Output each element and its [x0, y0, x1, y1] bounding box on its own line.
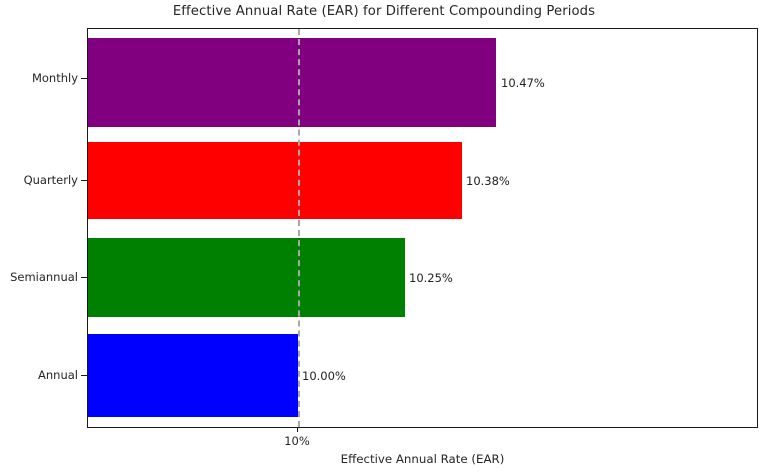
- y-tick-label-monthly: Monthly: [0, 71, 78, 85]
- y-tick-label-quarterly: Quarterly: [0, 173, 78, 187]
- y-tick-label-annual: Annual: [0, 368, 78, 382]
- bar-quarterly[interactable]: [88, 142, 462, 219]
- reference-line-10-percent: [298, 29, 300, 427]
- plot-area: 10.47% 10.38% 10.25% 10.00%: [87, 28, 758, 428]
- x-tick-label-10-percent: 10%: [284, 434, 310, 448]
- bar-annual[interactable]: [88, 334, 298, 417]
- bar-value-label-annual: 10.00%: [302, 369, 346, 383]
- x-axis-label: Effective Annual Rate (EAR): [87, 452, 758, 466]
- chart-figure: Effective Annual Rate (EAR) for Differen…: [0, 0, 768, 474]
- x-tick-mark-10-percent: [297, 428, 298, 432]
- bar-semiannual[interactable]: [88, 238, 405, 317]
- plot-inner: 10.47% 10.38% 10.25% 10.00%: [88, 29, 757, 427]
- chart-title: Effective Annual Rate (EAR) for Differen…: [0, 4, 768, 19]
- bar-value-label-monthly: 10.47%: [501, 76, 545, 90]
- bar-value-label-semiannual: 10.25%: [409, 271, 453, 285]
- y-tick-label-semiannual: Semiannual: [0, 270, 78, 284]
- bar-value-label-quarterly: 10.38%: [466, 174, 510, 188]
- bar-monthly[interactable]: [88, 38, 496, 127]
